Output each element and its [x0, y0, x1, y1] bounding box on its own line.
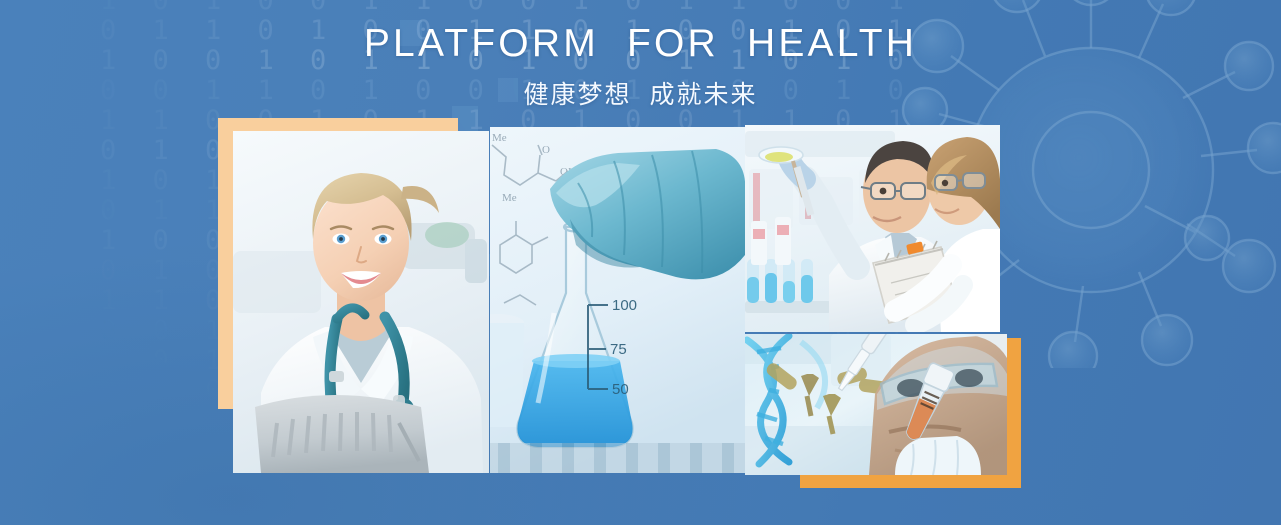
svg-text:Me: Me — [492, 132, 507, 144]
photo-doctor-at-computer — [233, 131, 489, 473]
page-subtitle: 健康梦想 成就未来 — [0, 75, 1281, 111]
svg-text:50: 50 — [612, 381, 629, 398]
health-platform-banner: 1 0 1 0 0 1 1 0 0 1 0 1 1 0 0 1 0 1 0 0 … — [0, 0, 1281, 525]
page-title: PLATFORM FOR HEALTH — [0, 22, 1281, 66]
banner-text-block: PLATFORM FOR HEALTH 健康梦想 成就未来 — [0, 22, 1281, 111]
svg-text:100: 100 — [612, 297, 637, 314]
svg-text:O: O — [542, 144, 550, 156]
svg-text:Me: Me — [502, 192, 517, 204]
svg-text:75: 75 — [610, 341, 627, 358]
photo-gloved-hand-flask: Me O OH Me — [490, 127, 745, 473]
photo-researcher-pipette-dna — [745, 334, 1007, 475]
photo-two-scientists-petri-dish — [745, 125, 1000, 332]
